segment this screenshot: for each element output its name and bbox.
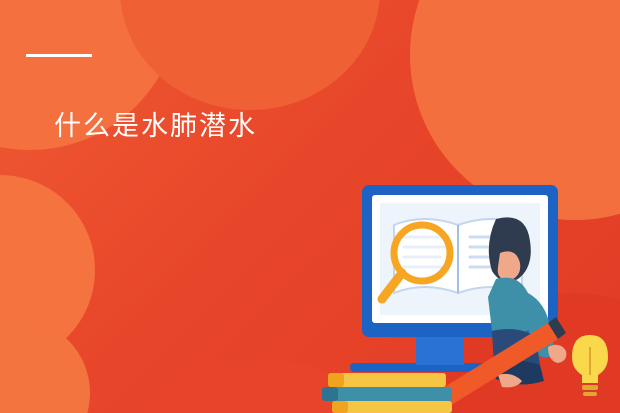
laptop-hinge xyxy=(416,335,464,365)
slide-title: 什么是水肺潜水 xyxy=(54,104,257,143)
slide-canvas: 什么是水肺潜水 xyxy=(0,0,620,413)
title-rule xyxy=(26,54,92,57)
book-stack xyxy=(322,373,452,413)
person-hand xyxy=(548,345,566,363)
lightbulb-icon xyxy=(572,335,608,396)
illustration-person-reading-on-laptop xyxy=(320,175,610,413)
